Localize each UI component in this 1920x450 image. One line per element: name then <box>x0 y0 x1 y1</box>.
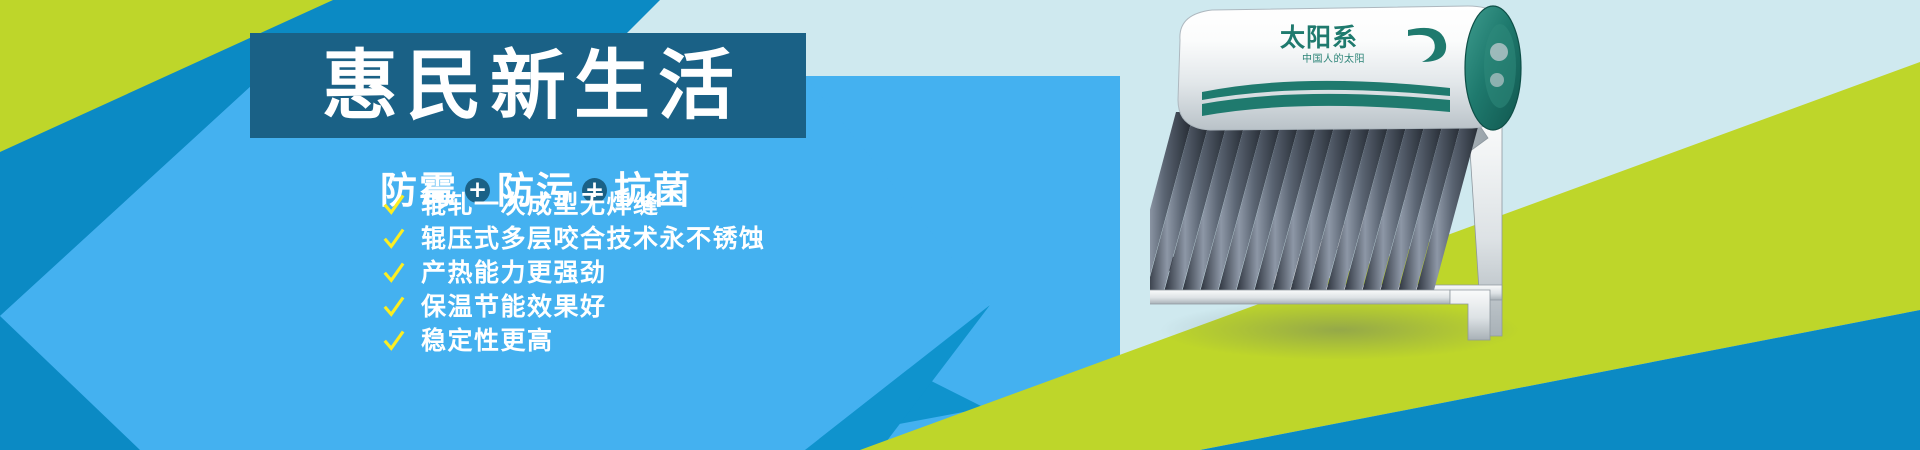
feature-label: 产热能力更强劲 <box>421 260 607 285</box>
feature-item: 稳定性更高 <box>383 328 766 353</box>
check-icon <box>383 228 405 250</box>
check-icon <box>383 330 405 352</box>
feature-item: 产热能力更强劲 <box>383 260 766 285</box>
product-brand-subtext: 中国人的太阳 <box>1302 52 1365 65</box>
check-icon <box>383 194 405 216</box>
feature-label: 辊压式多层咬合技术永不锈蚀 <box>421 226 766 251</box>
feature-item: 辊压式多层咬合技术永不锈蚀 <box>383 226 766 251</box>
feature-item: 保温节能效果好 <box>383 294 766 319</box>
title-banner-box: 惠民新生活 <box>250 33 806 138</box>
product-vacuum-tubes <box>1150 112 1482 294</box>
feature-label: 辊轧一次成型无焊缝 <box>421 192 660 217</box>
product-storage-tank: 太阳系 中国人的太阳 <box>1178 6 1521 130</box>
promo-banner: 惠民新生活 防霉 + 防污 + 抗菌 辊轧一次成型无焊缝 辊压式多层咬合技术永不… <box>0 0 1920 450</box>
product-shadow <box>1160 300 1520 360</box>
product-image-solar-water-heater: 太阳系 中国人的太阳 <box>1150 0 1710 400</box>
page-title: 惠民新生活 <box>314 48 742 124</box>
product-brand-text: 太阳系 <box>1280 23 1358 52</box>
check-icon <box>383 262 405 284</box>
feature-list: 辊轧一次成型无焊缝 辊压式多层咬合技术永不锈蚀 产热能力更强劲 保温节能效果好 <box>383 192 766 353</box>
feature-label: 保温节能效果好 <box>421 294 607 319</box>
feature-item: 辊轧一次成型无焊缝 <box>383 192 766 217</box>
feature-label: 稳定性更高 <box>421 328 554 353</box>
check-icon <box>383 296 405 318</box>
